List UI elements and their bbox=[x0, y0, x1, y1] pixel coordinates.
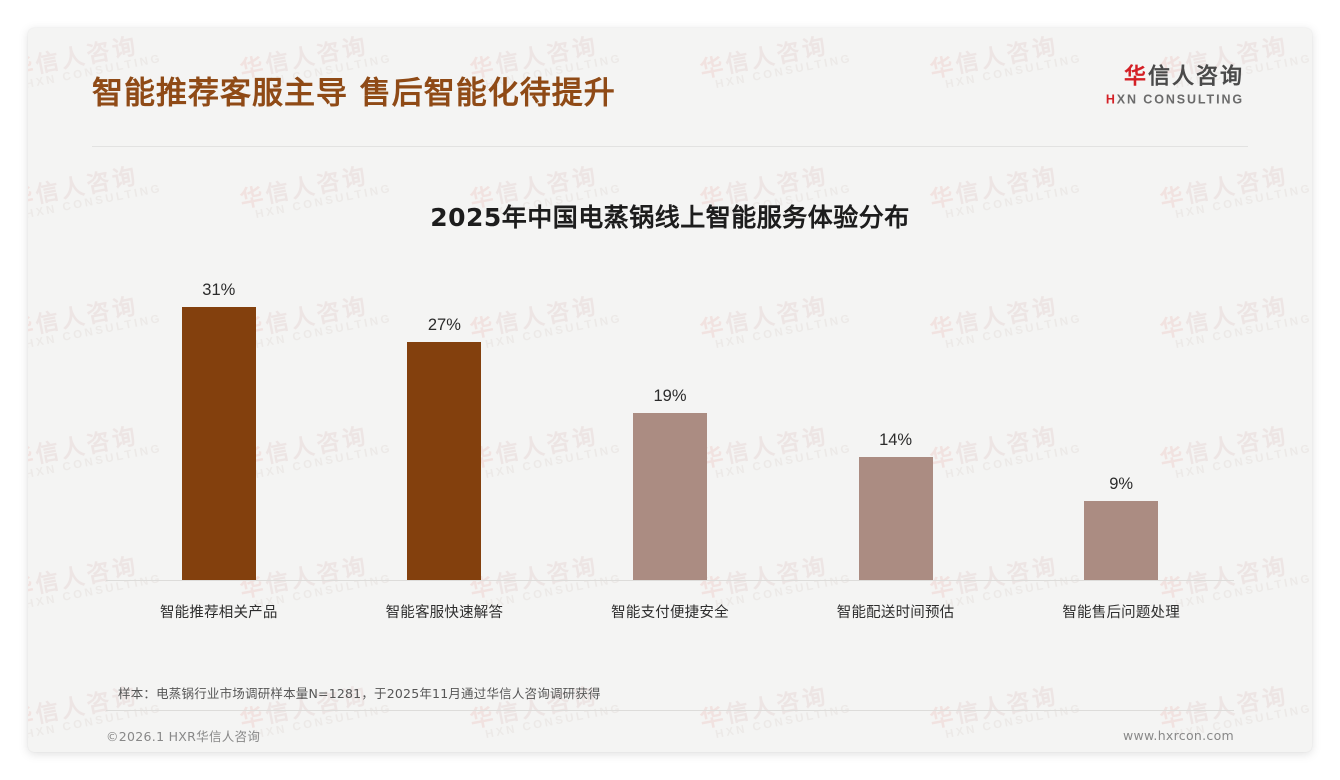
bar-wrap: 19% bbox=[633, 413, 707, 580]
bar[interactable] bbox=[1084, 501, 1158, 580]
bar-series: 31%27%19%14%9% bbox=[106, 272, 1234, 580]
x-axis-category-label: 智能推荐相关产品 bbox=[106, 601, 332, 622]
page-title: 智能推荐客服主导 售后智能化待提升 bbox=[92, 68, 616, 113]
bar-slot[interactable]: 9% bbox=[1008, 272, 1234, 580]
slide-footer: ©2026.1 HXR华信人咨询 www.hxrcon.com bbox=[106, 718, 1234, 752]
header-divider bbox=[92, 146, 1248, 147]
bar-slot[interactable]: 19% bbox=[557, 272, 783, 580]
x-axis-category-label: 智能配送时间预估 bbox=[783, 601, 1009, 622]
slide-header: 智能推荐客服主导 售后智能化待提升 华信人咨询 HXN CONSULTING bbox=[28, 28, 1312, 140]
x-axis-category-label: 智能客服快速解答 bbox=[332, 601, 558, 622]
bar[interactable] bbox=[182, 307, 256, 580]
bar-wrap: 31% bbox=[182, 307, 256, 580]
bar[interactable] bbox=[859, 457, 933, 580]
bar[interactable] bbox=[407, 342, 481, 580]
logo-en-rest: XN CONSULTING bbox=[1117, 93, 1244, 107]
sample-footnote: 样本：电蒸锅行业市场调研样本量N=1281，于2025年11月通过华信人咨询调研… bbox=[118, 683, 601, 702]
website-url: www.hxrcon.com bbox=[1123, 728, 1234, 743]
bar-wrap: 9% bbox=[1084, 501, 1158, 580]
x-axis-category-label: 智能支付便捷安全 bbox=[557, 601, 783, 622]
x-axis-category-label: 智能售后问题处理 bbox=[1008, 601, 1234, 622]
chart-title: 2025年中国电蒸锅线上智能服务体验分布 bbox=[28, 198, 1312, 234]
bar-slot[interactable]: 31% bbox=[106, 272, 332, 580]
bar-slot[interactable]: 14% bbox=[783, 272, 1009, 580]
bar-value-label: 14% bbox=[879, 431, 912, 450]
bar-slot[interactable]: 27% bbox=[332, 272, 558, 580]
slide-card: 华信人咨询HXN CONSULTING华信人咨询HXN CONSULTING华信… bbox=[28, 28, 1312, 752]
chart-area: 2025年中国电蒸锅线上智能服务体验分布 31%27%19%14%9% 智能推荐… bbox=[28, 153, 1312, 673]
copyright-text: ©2026.1 HXR华信人咨询 bbox=[106, 726, 260, 745]
logo-chinese: 华信人咨询 bbox=[1106, 65, 1244, 89]
bar-value-label: 19% bbox=[653, 387, 686, 406]
bar-value-label: 31% bbox=[202, 281, 235, 300]
x-axis-line bbox=[106, 580, 1234, 581]
bar-chart-plot: 31%27%19%14%9% bbox=[106, 273, 1234, 581]
bar-value-label: 9% bbox=[1109, 475, 1133, 494]
logo-english: HXN CONSULTING bbox=[1106, 93, 1244, 107]
bar-wrap: 27% bbox=[407, 342, 481, 580]
logo-en-red: H bbox=[1106, 93, 1117, 107]
x-axis-labels: 智能推荐相关产品智能客服快速解答智能支付便捷安全智能配送时间预估智能售后问题处理 bbox=[106, 601, 1234, 622]
bar[interactable] bbox=[633, 413, 707, 580]
company-logo: 华信人咨询 HXN CONSULTING bbox=[1106, 65, 1244, 106]
logo-cn-rest: 信人咨询 bbox=[1148, 64, 1244, 89]
bar-value-label: 27% bbox=[428, 316, 461, 335]
bar-wrap: 14% bbox=[859, 457, 933, 580]
logo-cn-red: 华 bbox=[1124, 64, 1148, 89]
footer-divider bbox=[106, 710, 1234, 711]
